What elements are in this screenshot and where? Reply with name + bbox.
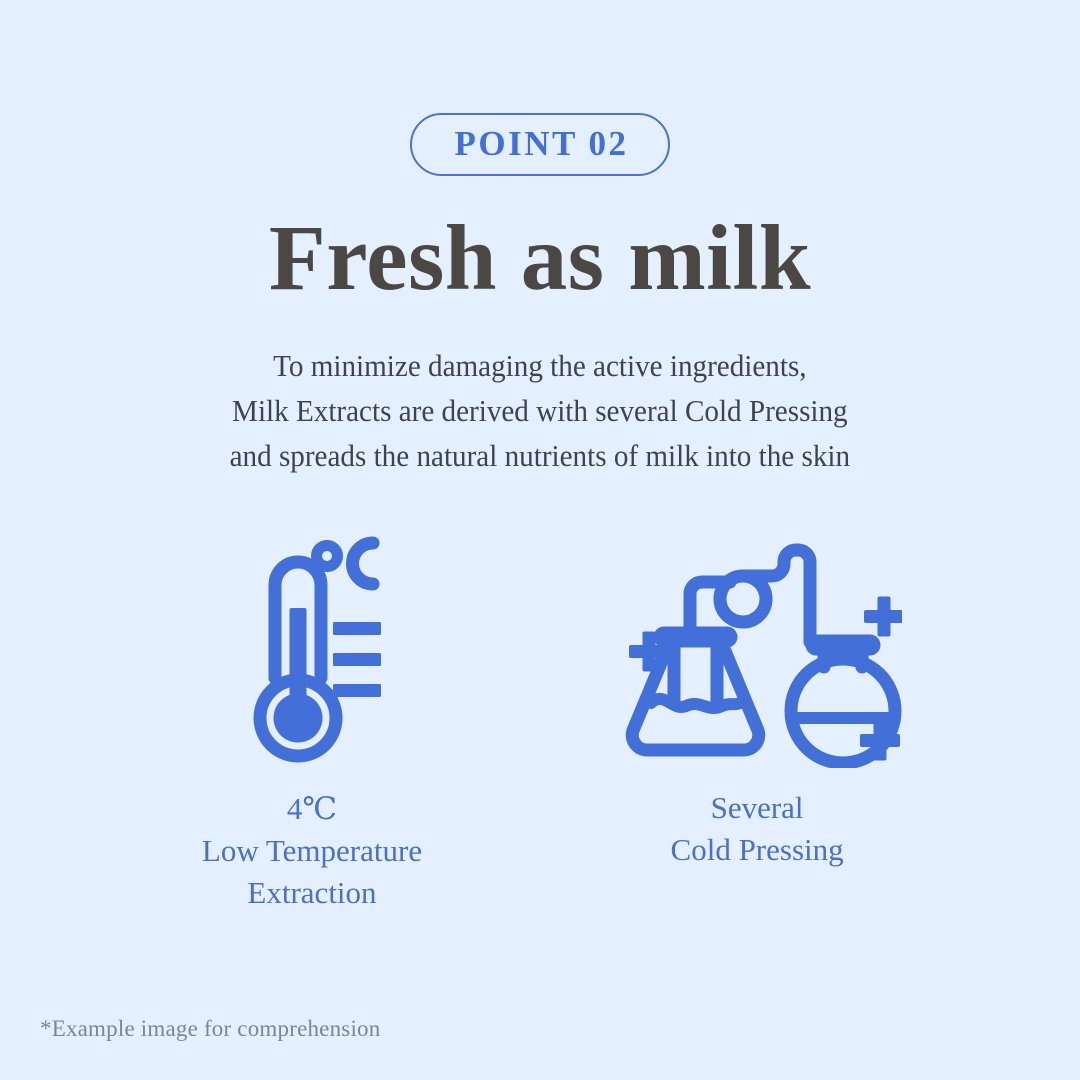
caption-line-2: Low Temperature	[202, 830, 422, 872]
caption-line-1: Several	[671, 787, 844, 829]
description-line-2: Milk Extracts are derived with several C…	[230, 389, 850, 434]
feature-cold-pressing: Several Cold Pressing	[612, 536, 902, 871]
sparkle-plus-top-right	[864, 597, 902, 637]
description-line-1: To minimize damaging the active ingredie…	[230, 344, 850, 389]
feature-low-temperature: 4℃ Low Temperature Extraction	[202, 536, 422, 914]
lab-flasks-icon-box	[612, 536, 902, 768]
lab-flasks-icon	[612, 536, 902, 768]
point-badge: POINT 02	[410, 113, 671, 176]
thermometer-icon	[242, 536, 382, 768]
thermometer-icon-box	[242, 536, 382, 768]
caption-line-3: Extraction	[202, 872, 422, 914]
description-line-3: and spreads the natural nutrients of mil…	[230, 434, 850, 479]
feature-row: 4℃ Low Temperature Extraction	[0, 536, 1080, 914]
caption-line-1: 4℃	[202, 788, 422, 830]
footnote-disclaimer: *Example image for comprehension	[40, 1016, 380, 1042]
description-paragraph: To minimize damaging the active ingredie…	[230, 344, 850, 479]
caption-line-2: Cold Pressing	[671, 829, 844, 871]
page-title: Fresh as milk	[269, 212, 811, 305]
feature-caption-low-temperature: 4℃ Low Temperature Extraction	[202, 788, 422, 914]
promo-card: POINT 02 Fresh as milk To minimize damag…	[0, 0, 1080, 1080]
feature-caption-cold-pressing: Several Cold Pressing	[671, 787, 844, 871]
badge-container: POINT 02	[0, 113, 1080, 176]
